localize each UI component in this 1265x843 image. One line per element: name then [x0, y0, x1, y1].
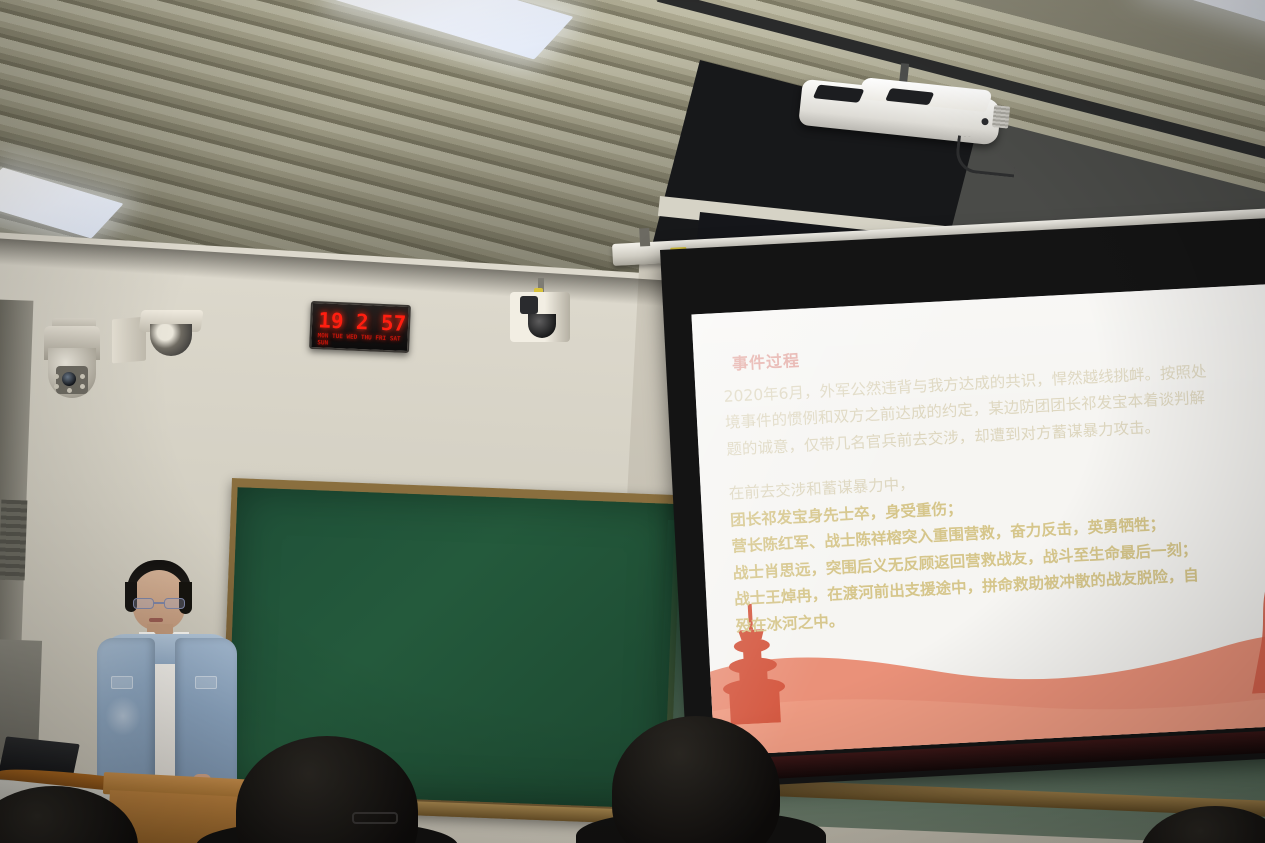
jacket-pocket — [195, 676, 217, 689]
ptz-security-camera — [42, 318, 102, 404]
projected-slide-area: ✕ 事件过程 2020年6月，外军公然违背与我方达成的共识，悍然越线挑衅。按照处… — [691, 283, 1265, 756]
slide-body-text: 2020年6月，外军公然违背与我方达成的共识，悍然越线挑衅。按照处 境事件的惯例… — [723, 353, 1265, 641]
glasses-lens — [164, 598, 185, 609]
dome-security-camera — [140, 310, 204, 370]
camera-lens-icon — [62, 372, 76, 386]
clock-weekday-indicators: MON TUE WED THU FRI SAT SUN — [317, 334, 405, 348]
presentation-slide: ✕ 事件过程 2020年6月，外军公然违背与我方达成的共识，悍然越线挑衅。按照处… — [691, 283, 1265, 756]
glasses-lens — [133, 598, 154, 609]
jacket-pocket — [111, 676, 133, 689]
ir-led-icon — [80, 374, 85, 379]
wall-mounted-camera — [510, 288, 578, 350]
audience-glasses-icon — [352, 812, 398, 824]
camera-bubble-icon — [150, 324, 192, 356]
projection-screen: ✕ 事件过程 2020年6月，外军公然违背与我方达成的共识，悍然越线挑衅。按照处… — [660, 217, 1265, 790]
ir-led-icon — [54, 384, 59, 389]
projector-vent — [992, 105, 1010, 129]
camera-sunshade — [520, 296, 538, 314]
led-wall-clock: 19 2 57 MON TUE WED THU FRI SAT SUN — [309, 301, 411, 353]
jacket-fade-patch — [105, 696, 141, 736]
slide-title: 事件过程 — [731, 347, 800, 375]
ir-led-icon — [54, 374, 59, 379]
clock-hours: 19 — [318, 308, 344, 333]
glasses-bridge — [154, 602, 164, 604]
ir-led-icon — [67, 388, 72, 393]
presenter-jacket-right — [175, 638, 237, 796]
clock-minutes: 57 — [380, 311, 406, 336]
wall-vent — [0, 500, 27, 581]
classroom-photo-scene: 19 2 57 MON TUE WED THU FRI SAT SUN — [0, 0, 1265, 843]
ir-led-icon — [80, 384, 85, 389]
presenter-mouth — [149, 618, 163, 622]
screen-bracket — [639, 228, 650, 247]
presenter-glasses-icon — [133, 598, 185, 610]
clock-separator: 2 — [355, 310, 369, 335]
